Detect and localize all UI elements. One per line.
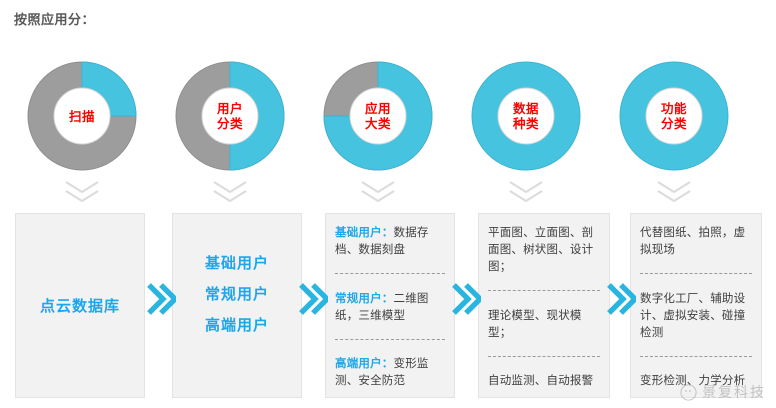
panel-row: 点云数据库 基础用户 常规用户 高端用户 基础用户：数据存档、数据刻盘 常规用户… [0,213,776,401]
segment: 基础用户：数据存档、数据刻盘 [335,224,445,258]
segment-divider [488,356,600,357]
segment: 理论模型、现状模型； [488,307,600,341]
panel-user-tiers-line-2: 常规用户 [205,279,269,310]
double-chevron-down-icon [358,180,398,206]
panel-function-usage[interactable]: 代替图纸、拍照，虚拟现场 数字化工厂、辅助设计、虚拟安装、碰撞检测 变形检测、力… [630,213,762,398]
panel-user-tiers-line-3: 高端用户 [205,310,269,341]
segment: 高端用户：变形监测、安全防范 [335,355,445,389]
donut-chart-scan: 扫描 [25,59,139,173]
segment-key: 高端用户： [335,356,394,370]
panel-point-cloud-db-headline: 点云数据库 [40,291,120,322]
page-title: 按照应用分： [14,9,95,28]
segment-key: 常规用户： [335,291,394,305]
double-chevron-down-icon [506,180,546,206]
donut-user-class-svg [173,59,287,173]
double-chevron-right-icon [606,279,636,319]
segment: 数字化工厂、辅助设计、虚拟安装、碰撞检测 [640,290,752,341]
segment-divider [335,339,445,340]
donut-chart-app-class: 应用 大类 [321,59,435,173]
donut-scan-svg [25,59,139,173]
panel-user-tiers[interactable]: 基础用户 常规用户 高端用户 [172,213,302,398]
donut-app-class-svg [321,59,435,173]
panel-user-tier-usage-segments: 基础用户：数据存档、数据刻盘 常规用户：二维图纸，三维模型 高端用户：变形监测、… [335,224,445,389]
panel-deliverable-types-segments: 平面图、立面图、剖面图、树状图、设计图； 理论模型、现状模型； 自动监测、自动报… [488,224,600,389]
panel-deliverable-types[interactable]: 平面图、立面图、剖面图、树状图、设计图； 理论模型、现状模型； 自动监测、自动报… [478,213,610,398]
donut-chart-row: 扫描 用户 分类 应用 大类 [0,57,776,177]
segment-key: 基础用户： [335,225,394,239]
segment: 变形检测、力学分析 [640,372,752,389]
double-chevron-right-icon [146,279,176,319]
donut-func-class-svg [617,59,731,173]
slide-canvas: 按照应用分： 扫描 用户 分类 [0,0,776,408]
segment: 常规用户：二维图纸，三维模型 [335,290,445,324]
panel-user-tiers-line-1: 基础用户 [205,248,269,279]
double-chevron-down-icon [210,180,250,206]
donut-data-kind-svg [469,59,583,173]
segment: 平面图、立面图、剖面图、树状图、设计图； [488,224,600,275]
donut-chart-user-class: 用户 分类 [173,59,287,173]
segment-divider [640,273,752,274]
segment-divider [640,356,752,357]
double-chevron-down-icon [654,180,694,206]
segment-divider [488,290,600,291]
double-chevron-right-icon [298,279,328,319]
double-chevron-right-icon [451,279,481,319]
donut-chart-func-class: 功能 分类 [617,59,731,173]
segment: 自动监测、自动报警 [488,372,600,389]
panel-user-tier-usage[interactable]: 基础用户：数据存档、数据刻盘 常规用户：二维图纸，三维模型 高端用户：变形监测、… [325,213,455,398]
segment-divider [335,273,445,274]
panel-function-usage-segments: 代替图纸、拍照，虚拟现场 数字化工厂、辅助设计、虚拟安装、碰撞检测 变形检测、力… [640,224,752,389]
donut-chart-data-kind: 数据 种类 [469,59,583,173]
panel-point-cloud-db[interactable]: 点云数据库 [15,213,145,398]
segment: 代替图纸、拍照，虚拟现场 [640,224,752,258]
double-chevron-down-icon [62,180,102,206]
